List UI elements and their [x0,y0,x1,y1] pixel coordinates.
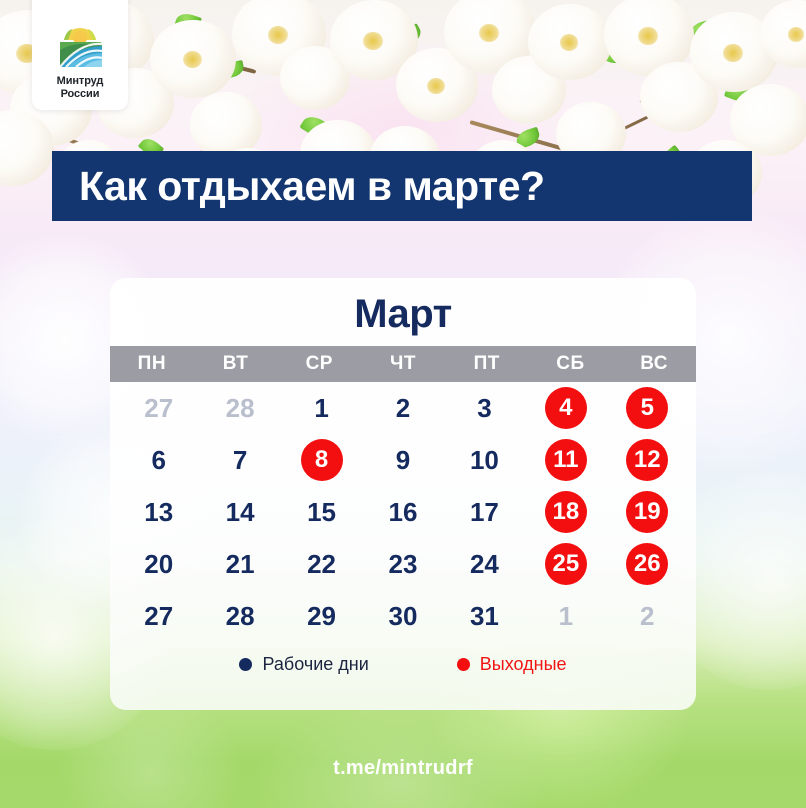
weekday-header-row: ПН ВТ СР ЧТ ПТ СБ ВС [110,346,696,382]
calendar-day-number: 4 [545,387,587,429]
calendar-week-row: 6789101112 [118,434,688,486]
calendar-day-number: 25 [545,543,587,585]
calendar-day-off-25[interactable]: 25 [525,543,606,585]
poster-canvas: Минтруд России Как отдыхаем в марте? Мар… [0,0,806,808]
weekday-fri: ПТ [445,353,529,375]
calendar-day-number: 14 [219,491,261,533]
calendar-day-number: 1 [301,387,343,429]
calendar-day-number: 20 [138,543,180,585]
working-day-dot-icon [239,658,252,671]
calendar-day-number: 29 [301,595,343,637]
calendar-day-number: 22 [301,543,343,585]
calendar-day-number: 19 [626,491,668,533]
weekday-wed: СР [277,353,361,375]
calendar-day-off-8[interactable]: 8 [281,439,362,481]
calendar-day-work-27[interactable]: 27 [118,595,199,637]
calendar-day-number: 28 [219,387,261,429]
calendar-day-muted-27[interactable]: 27 [118,387,199,429]
brand-name-line2: России [57,88,104,101]
calendar-day-number: 11 [545,439,587,481]
calendar-day-work-3[interactable]: 3 [444,387,525,429]
calendar-day-work-24[interactable]: 24 [444,543,525,585]
mintrud-sun-field-logo-icon [52,26,108,70]
calendar-day-number: 24 [463,543,505,585]
calendar-day-off-19[interactable]: 19 [607,491,688,533]
legend-label-working-days: Рабочие дни [262,654,368,675]
calendar-week-row: 13141516171819 [118,486,688,538]
calendar-day-number: 3 [463,387,505,429]
footer-telegram-link[interactable]: t.me/mintrudrf [0,757,806,780]
calendar-day-number: 13 [138,491,180,533]
calendar-grid: 2728123456789101112131415161718192021222… [110,382,696,642]
calendar-day-work-30[interactable]: 30 [362,595,443,637]
calendar-day-work-20[interactable]: 20 [118,543,199,585]
weekday-tue: ВТ [194,353,278,375]
calendar-day-off-12[interactable]: 12 [607,439,688,481]
calendar-day-number: 6 [138,439,180,481]
calendar-day-work-1[interactable]: 1 [281,387,362,429]
mintrud-logo-text: Минтруд России [57,75,104,100]
calendar-day-number: 21 [219,543,261,585]
calendar-day-number: 2 [382,387,424,429]
calendar-day-off-11[interactable]: 11 [525,439,606,481]
calendar-day-work-22[interactable]: 22 [281,543,362,585]
calendar-day-muted-2[interactable]: 2 [607,595,688,637]
calendar-legend: Рабочие дни Выходные [110,654,696,675]
calendar-day-muted-28[interactable]: 28 [199,387,280,429]
brand-name-line1: Минтруд [57,75,104,88]
weekday-sun: ВС [612,353,696,375]
calendar-day-work-14[interactable]: 14 [199,491,280,533]
calendar-day-work-17[interactable]: 17 [444,491,525,533]
calendar-day-number: 9 [382,439,424,481]
calendar-card: Март ПН ВТ СР ЧТ ПТ СБ ВС 27281234567891… [110,278,696,710]
calendar-day-work-7[interactable]: 7 [199,439,280,481]
legend-item-days-off: Выходные [457,654,567,675]
title-banner: Как отдыхаем в марте? [52,151,752,221]
calendar-day-number: 23 [382,543,424,585]
calendar-day-number: 7 [219,439,261,481]
calendar-day-work-29[interactable]: 29 [281,595,362,637]
day-off-dot-icon [457,658,470,671]
calendar-day-number: 15 [301,491,343,533]
calendar-day-work-21[interactable]: 21 [199,543,280,585]
calendar-day-number: 5 [626,387,668,429]
weekday-sat: СБ [529,353,613,375]
month-title: Март [110,278,696,338]
calendar-day-work-15[interactable]: 15 [281,491,362,533]
calendar-day-number: 16 [382,491,424,533]
calendar-day-off-26[interactable]: 26 [607,543,688,585]
legend-label-days-off: Выходные [480,654,567,675]
calendar-week-row: 272812345 [118,382,688,434]
calendar-day-off-4[interactable]: 4 [525,387,606,429]
calendar-day-number: 12 [626,439,668,481]
calendar-day-number: 28 [219,595,261,637]
page-title: Как отдыхаем в марте? [79,163,545,210]
calendar-day-work-2[interactable]: 2 [362,387,443,429]
weekday-thu: ЧТ [361,353,445,375]
calendar-day-number: 31 [463,595,505,637]
calendar-day-number: 30 [382,595,424,637]
calendar-day-number: 10 [463,439,505,481]
calendar-day-number: 18 [545,491,587,533]
calendar-day-work-9[interactable]: 9 [362,439,443,481]
calendar-day-number: 2 [626,595,668,637]
calendar-day-number: 8 [301,439,343,481]
calendar-day-muted-1[interactable]: 1 [525,595,606,637]
calendar-day-number: 17 [463,491,505,533]
calendar-day-work-28[interactable]: 28 [199,595,280,637]
calendar-day-number: 1 [545,595,587,637]
legend-item-working-days: Рабочие дни [239,654,368,675]
bokeh-light [250,700,550,808]
calendar-week-row: 272829303112 [118,590,688,642]
calendar-day-off-5[interactable]: 5 [607,387,688,429]
calendar-day-work-13[interactable]: 13 [118,491,199,533]
calendar-day-work-23[interactable]: 23 [362,543,443,585]
calendar-day-work-31[interactable]: 31 [444,595,525,637]
calendar-day-work-16[interactable]: 16 [362,491,443,533]
calendar-day-off-18[interactable]: 18 [525,491,606,533]
calendar-day-work-6[interactable]: 6 [118,439,199,481]
calendar-day-number: 26 [626,543,668,585]
calendar-day-number: 27 [138,595,180,637]
weekday-mon: ПН [110,353,194,375]
calendar-day-number: 27 [138,387,180,429]
mintrud-logo-card: Минтруд России [32,0,128,110]
calendar-day-work-10[interactable]: 10 [444,439,525,481]
calendar-week-row: 20212223242526 [118,538,688,590]
